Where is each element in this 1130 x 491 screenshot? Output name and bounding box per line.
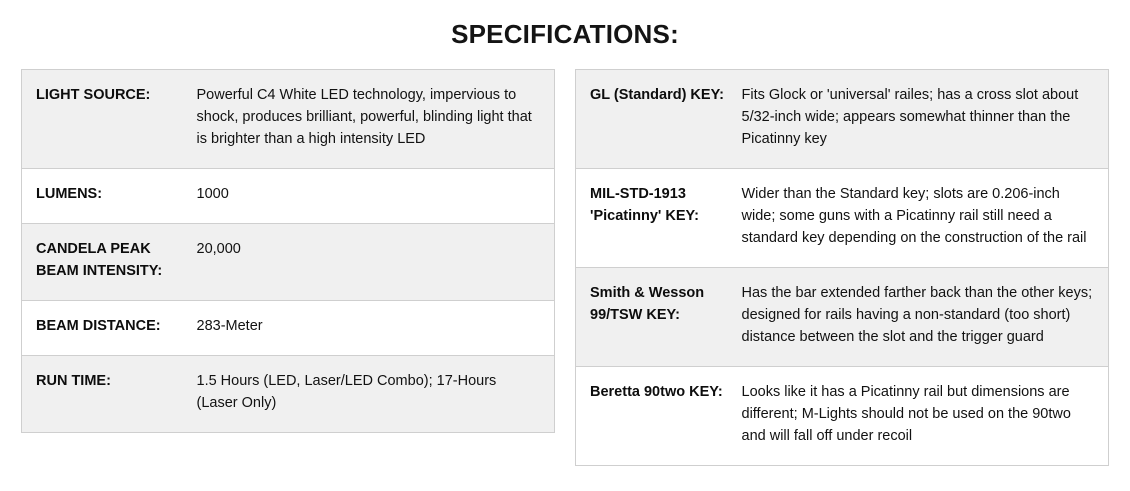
spec-label: RUN TIME: <box>22 355 197 432</box>
spec-label: LUMENS: <box>22 168 197 223</box>
spec-value: 1.5 Hours (LED, Laser/LED Combo); 17-Hou… <box>197 355 555 432</box>
table-row: RUN TIME: 1.5 Hours (LED, Laser/LED Comb… <box>22 355 555 432</box>
spec-value: 283-Meter <box>197 300 555 355</box>
key-types-table-body: GL (Standard) KEY: Fits Glock or 'univer… <box>576 69 1109 465</box>
table-row: BEAM DISTANCE: 283-Meter <box>22 300 555 355</box>
table-row: MIL-STD-1913 'Picatinny' KEY: Wider than… <box>576 168 1109 267</box>
key-label: GL (Standard) KEY: <box>576 69 742 168</box>
specifications-table-body: LIGHT SOURCE: Powerful C4 White LED tech… <box>22 69 555 432</box>
specifications-table: LIGHT SOURCE: Powerful C4 White LED tech… <box>21 69 555 433</box>
table-row: CANDELA PEAK BEAM INTENSITY: 20,000 <box>22 223 555 300</box>
table-row: GL (Standard) KEY: Fits Glock or 'univer… <box>576 69 1109 168</box>
key-value: Wider than the Standard key; slots are 0… <box>742 168 1109 267</box>
page-title: SPECIFICATIONS: <box>0 0 1130 49</box>
spec-label: CANDELA PEAK BEAM INTENSITY: <box>22 223 197 300</box>
spec-value: 1000 <box>197 168 555 223</box>
key-value: Looks like it has a Picatinny rail but d… <box>742 366 1109 465</box>
key-types-table: GL (Standard) KEY: Fits Glock or 'univer… <box>575 69 1109 466</box>
table-row: Smith & Wesson 99/TSW KEY: Has the bar e… <box>576 267 1109 366</box>
key-value: Fits Glock or 'universal' railes; has a … <box>742 69 1109 168</box>
spec-value: Powerful C4 White LED technology, imperv… <box>197 69 555 168</box>
key-label: MIL-STD-1913 'Picatinny' KEY: <box>576 168 742 267</box>
table-row: Beretta 90two KEY: Looks like it has a P… <box>576 366 1109 465</box>
key-label: Beretta 90two KEY: <box>576 366 742 465</box>
specifications-page: SPECIFICATIONS: LIGHT SOURCE: Powerful C… <box>0 0 1130 491</box>
key-label: Smith & Wesson 99/TSW KEY: <box>576 267 742 366</box>
spec-label: LIGHT SOURCE: <box>22 69 197 168</box>
key-value: Has the bar extended farther back than t… <box>742 267 1109 366</box>
table-row: LUMENS: 1000 <box>22 168 555 223</box>
spec-label: BEAM DISTANCE: <box>22 300 197 355</box>
tables-container: LIGHT SOURCE: Powerful C4 White LED tech… <box>0 49 1130 466</box>
table-row: LIGHT SOURCE: Powerful C4 White LED tech… <box>22 69 555 168</box>
spec-value: 20,000 <box>197 223 555 300</box>
